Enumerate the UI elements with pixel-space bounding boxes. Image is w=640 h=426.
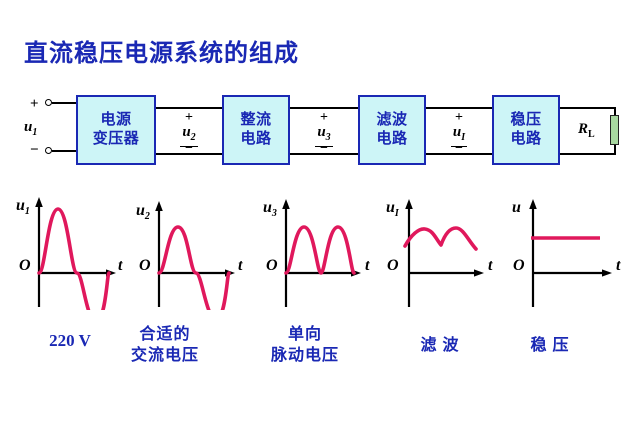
block-regulator-line2: 电路 xyxy=(510,130,541,149)
wave-u2-origin-label: O xyxy=(139,257,151,275)
caption-ac-line2: 交流电压 xyxy=(110,345,220,366)
wave-u-origin-label: O xyxy=(513,257,525,275)
block-transformer[interactable]: 电源 变压器 xyxy=(76,95,156,165)
midlabel-uI-plus: + xyxy=(439,112,479,123)
block-filter[interactable]: 滤波 电路 xyxy=(358,95,426,165)
wire-u3-top xyxy=(290,107,358,109)
wave-u: u O t xyxy=(502,195,630,310)
wave-u3-xlabel: t xyxy=(365,257,369,275)
block-rectifier-line1: 整流 xyxy=(240,111,271,130)
caption-220v: 220 V xyxy=(20,330,120,351)
input-terminal-minus xyxy=(45,147,52,154)
wave-u-plot xyxy=(502,195,630,310)
wave-u1: u1 O t xyxy=(6,195,134,310)
wave-u2-ylabel: u2 xyxy=(136,202,150,222)
midlabel-uI: + uI − xyxy=(439,112,479,153)
midlabel-u3: + u3 − xyxy=(304,112,344,153)
wave-uI-xlabel: t xyxy=(488,257,492,275)
wave-u-ylabel: u xyxy=(512,199,521,219)
midlabel-u2-plus: + xyxy=(169,112,209,123)
wave-u1-origin-label: O xyxy=(19,257,31,275)
waveform-row: u1 O t u2 O t xyxy=(0,195,640,310)
wave-u1-ylabel: u1 xyxy=(16,197,30,217)
load-resistor-label: RL xyxy=(578,121,595,140)
block-transformer-line1: 电源 xyxy=(100,111,131,130)
input-terminal-plus xyxy=(45,99,52,106)
input-voltage-subscript: 1 xyxy=(32,127,37,138)
load-resistor-symbol: R xyxy=(578,121,588,137)
load-resistor-icon xyxy=(610,115,619,145)
midlabel-uI-minus: − xyxy=(439,144,479,153)
caption-row: 220 V 合适的 交流电压 单向 脉动电压 滤 波 稳 压 xyxy=(0,322,640,382)
caption-ac-line1: 合适的 xyxy=(110,324,220,345)
caption-ac: 合适的 交流电压 xyxy=(110,324,220,366)
caption-reg: 稳 压 xyxy=(500,335,600,356)
wire-load-top xyxy=(560,107,616,109)
block-transformer-line2: 变压器 xyxy=(93,130,140,149)
wave-uI: uI O t xyxy=(378,195,506,310)
caption-filter: 滤 波 xyxy=(390,335,490,356)
caption-pulse: 单向 脉动电压 xyxy=(250,324,360,366)
block-regulator-line1: 稳压 xyxy=(510,111,541,130)
midlabel-u2-minus: − xyxy=(169,144,209,153)
caption-pulse-line2: 脉动电压 xyxy=(250,345,360,366)
wave-u3: u3 O t xyxy=(255,195,383,310)
input-plus-sign: + xyxy=(30,97,39,112)
wave-u2-xlabel: t xyxy=(238,257,242,275)
wave-u1-xlabel: t xyxy=(118,257,122,275)
caption-220v-line1: 220 V xyxy=(20,330,120,351)
block-diagram: + − u1 电源 变压器 + u2 − 整流 电路 + xyxy=(0,85,640,190)
wave-u2: u2 O t xyxy=(130,195,258,310)
load-resistor-subscript: L xyxy=(588,129,595,140)
caption-pulse-line1: 单向 xyxy=(250,324,360,345)
midlabel-u3-minus: − xyxy=(304,144,344,153)
wave-uI-ylabel: uI xyxy=(386,199,399,219)
wire-u2-top xyxy=(156,107,222,109)
midlabel-u3-plus: + xyxy=(304,112,344,123)
page-title: 直流稳压电源系统的组成 xyxy=(24,33,299,68)
wave-u-xlabel: t xyxy=(616,257,620,275)
wave-u3-origin-label: O xyxy=(266,257,278,275)
block-rectifier[interactable]: 整流 电路 xyxy=(222,95,290,165)
input-voltage-label: u1 xyxy=(24,119,37,138)
slide-canvas: 直流稳压电源系统的组成 + − u1 电源 变压器 + u2 − 整流 电路 xyxy=(0,0,640,426)
wire-load-bottom xyxy=(560,153,616,155)
wave-u3-ylabel: u3 xyxy=(263,199,277,219)
input-minus-sign: − xyxy=(30,143,39,158)
caption-filter-line1: 滤 波 xyxy=(390,335,490,356)
block-rectifier-line2: 电路 xyxy=(240,130,271,149)
block-filter-line2: 电路 xyxy=(376,130,407,149)
block-filter-line1: 滤波 xyxy=(376,111,407,130)
block-regulator[interactable]: 稳压 电路 xyxy=(492,95,560,165)
wire-uI-top xyxy=(426,107,492,109)
wave-uI-origin-label: O xyxy=(387,257,399,275)
caption-reg-line1: 稳 压 xyxy=(500,335,600,356)
midlabel-u2: + u2 − xyxy=(169,112,209,153)
